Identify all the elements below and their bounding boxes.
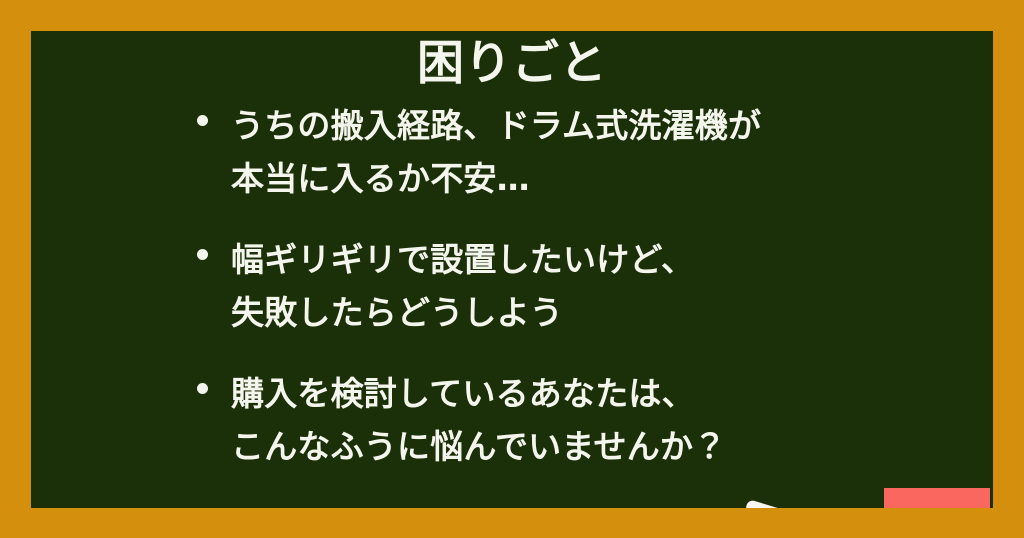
bullet-line: うちの搬入経路、ドラム式洗濯機が: [231, 99, 979, 152]
page-title: 困りごと: [31, 35, 993, 93]
bullet-line: 本当に入るか不安…: [231, 152, 979, 205]
bullet-dot-icon: [197, 383, 208, 394]
slide-canvas: 困りごと うちの搬入経路、ドラム式洗濯機が 本当に入るか不安… 幅ギリギリで設置…: [0, 0, 1024, 538]
chalkboard: 困りごと うちの搬入経路、ドラム式洗濯機が 本当に入るか不安… 幅ギリギリで設置…: [31, 31, 993, 508]
list-item: 購入を検討しているあなたは、 こんなふうに悩んでいませんか？: [189, 367, 979, 473]
bullet-line: 幅ギリギリで設置したいけど、: [231, 233, 979, 286]
white-chalk-icon: [745, 499, 816, 508]
list-item: うちの搬入経路、ドラム式洗濯機が 本当に入るか不安…: [189, 99, 979, 205]
bullet-line: こんなふうに悩んでいませんか？: [231, 420, 979, 473]
bullet-line: 購入を検討しているあなたは、: [231, 367, 979, 420]
eraser-felt: [884, 488, 990, 508]
bullet-dot-icon: [197, 115, 208, 126]
blackboard-eraser-icon: [884, 488, 990, 508]
list-item: 幅ギリギリで設置したいけど、 失敗したらどうしよう: [189, 233, 979, 339]
bullet-dot-icon: [197, 249, 208, 260]
bullet-line: 失敗したらどうしよう: [231, 286, 979, 339]
bullet-list: うちの搬入経路、ドラム式洗濯機が 本当に入るか不安… 幅ギリギリで設置したいけど…: [189, 99, 979, 473]
